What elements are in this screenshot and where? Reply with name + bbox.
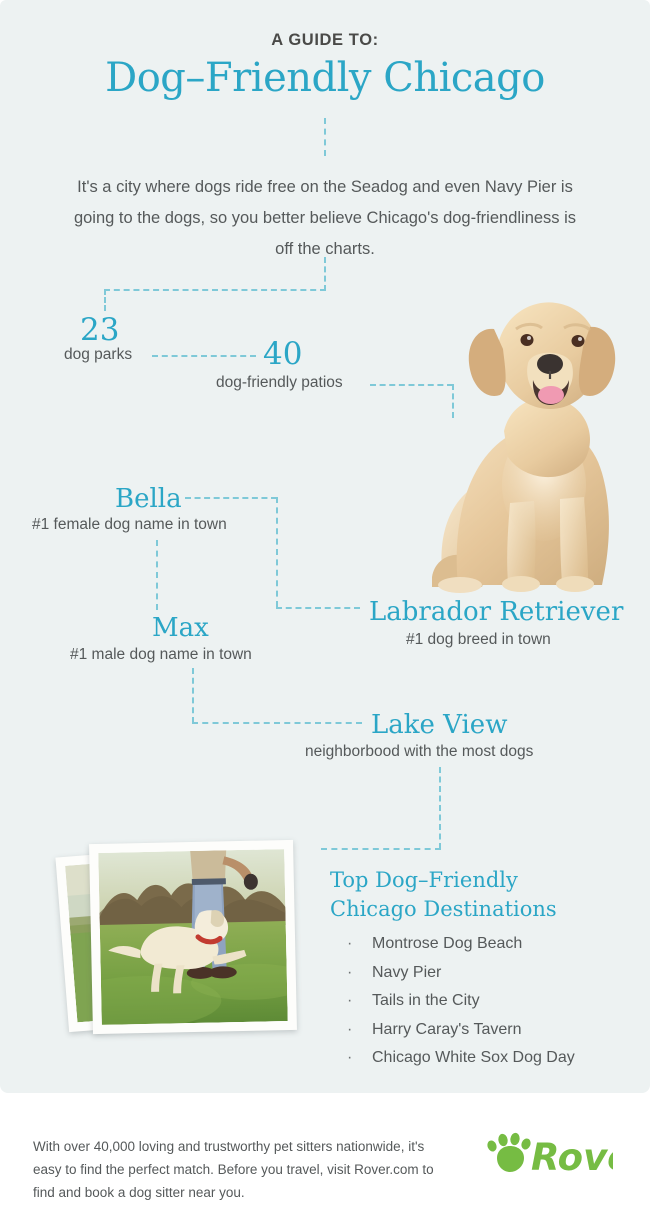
list-item: · Chicago White Sox Dog Day <box>344 1044 634 1073</box>
infographic-root: A GUIDE TO: Dog–Friendly Chicago It's a … <box>0 0 650 1230</box>
destination-label: Tails in the City <box>372 992 480 1009</box>
stat-patios-label: dog-friendly patios <box>216 374 343 392</box>
fact-breed-headline: Labrador Retriever <box>369 597 623 627</box>
guide-kicker: A GUIDE TO: <box>0 31 650 50</box>
rover-wordmark: Rover <box>531 1136 613 1179</box>
connector-to-destinations <box>321 848 441 850</box>
connector-bella-down <box>276 497 278 607</box>
destinations-title-line1: Top Dog–Friendly <box>330 866 590 895</box>
destination-label: Harry Caray's Tavern <box>372 1021 521 1038</box>
connector-to-labrador <box>276 607 360 609</box>
connector-max-down <box>192 668 194 723</box>
page-title: Dog–Friendly Chicago <box>0 55 650 101</box>
connector-to-lakeview <box>192 722 362 724</box>
infographic-card: A GUIDE TO: Dog–Friendly Chicago It's a … <box>0 0 650 1093</box>
list-item: · Navy Pier <box>344 959 634 988</box>
connector-parks-to-patios <box>152 355 256 357</box>
stat-dog-parks-value: 23 <box>80 312 119 348</box>
fact-max-headline: Max <box>152 613 209 643</box>
hero-dog-photo <box>432 285 642 597</box>
connector-lakeview-down <box>439 767 441 849</box>
list-item: · Montrose Dog Beach <box>344 930 634 959</box>
fact-neighborhood-headline: Lake View <box>371 710 507 740</box>
destinations-list: · Montrose Dog Beach · Navy Pier · Tails… <box>344 930 634 1073</box>
fact-neighborhood-caption: neighborbood with the most dogs <box>305 743 533 761</box>
fact-bella-caption: #1 female dog name in town <box>32 516 227 534</box>
bullet-icon: · <box>347 987 352 1016</box>
list-item: · Harry Caray's Tavern <box>344 1016 634 1045</box>
destinations-title-line2: Chicago Destinations <box>330 895 590 924</box>
connector-bella-to-max <box>156 540 158 610</box>
connector-title-to-intro <box>324 118 326 156</box>
polaroid-photo-stack <box>58 836 323 1044</box>
bullet-icon: · <box>347 1016 352 1045</box>
bullet-icon: · <box>347 1044 352 1073</box>
stat-dog-parks-label: dog parks <box>64 346 132 364</box>
destination-label: Navy Pier <box>372 964 441 981</box>
fact-breed-caption: #1 dog breed in town <box>406 631 551 649</box>
connector-intro-down <box>324 257 326 291</box>
connector-down-to-parks <box>104 289 106 311</box>
destination-label: Montrose Dog Beach <box>372 935 522 952</box>
intro-paragraph: It's a city where dogs ride free on the … <box>65 172 585 265</box>
footer-text: With over 40,000 loving and trustworthy … <box>33 1135 453 1204</box>
connector-intro-to-parks <box>104 289 326 291</box>
polaroid-front <box>89 840 297 1034</box>
stat-patios-value: 40 <box>263 336 302 372</box>
polaroid-front-image <box>98 849 288 1025</box>
destination-label: Chicago White Sox Dog Day <box>372 1049 575 1066</box>
list-item: · Tails in the City <box>344 987 634 1016</box>
rover-logo[interactable]: Rover <box>483 1128 613 1184</box>
bullet-icon: · <box>347 930 352 959</box>
fact-bella-headline: Bella <box>115 484 182 514</box>
fact-max-caption: #1 male dog name in town <box>70 646 252 664</box>
destinations-title: Top Dog–Friendly Chicago Destinations <box>330 866 590 924</box>
connector-bella-right <box>185 497 277 499</box>
bullet-icon: · <box>347 959 352 988</box>
